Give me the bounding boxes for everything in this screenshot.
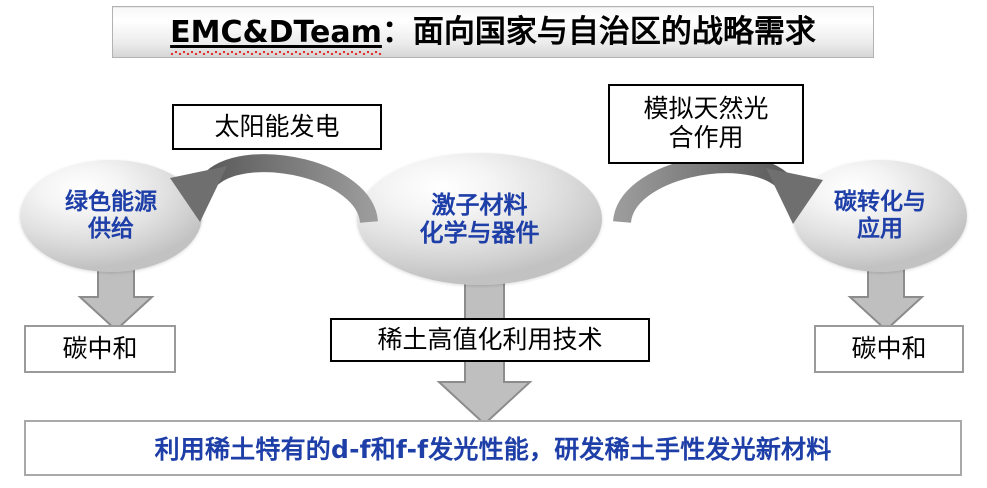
- label-box-artificial-photosynthesis-text: 模拟天然光 合作用: [643, 95, 768, 153]
- down-arrow-left: [80, 268, 152, 330]
- label-box-solar-power-text: 太阳能发电: [214, 113, 339, 142]
- label-box-carbon-neutral-left-text: 碳中和: [62, 335, 137, 364]
- label-box-rare-earth-technology[interactable]: 稀土高值化利用技术: [330, 318, 650, 362]
- page-title: EMC&DTeam：面向国家与自治区的战略需求: [170, 17, 816, 48]
- node-green-energy[interactable]: 绿色能源 供给: [20, 160, 202, 272]
- label-box-carbon-neutral-right[interactable]: 碳中和: [814, 325, 964, 373]
- bottom-summary-banner-text: 利用稀土特有的d-f和f-f发光性能，研发稀土手性发光新材料: [155, 430, 832, 466]
- node-exciton-materials[interactable]: 激子材料 化学与器件: [357, 153, 602, 285]
- down-arrow-right: [850, 268, 922, 330]
- label-box-carbon-neutral-right-text: 碳中和: [851, 335, 926, 364]
- bottom-summary-banner[interactable]: 利用稀土特有的d-f和f-f发光性能，研发稀土手性发光新材料: [24, 420, 962, 476]
- slide-canvas: EMC&DTeam：面向国家与自治区的战略需求: [0, 0, 987, 488]
- title-separator: ：: [382, 17, 413, 48]
- node-green-energy-label: 绿色能源 供给: [65, 189, 157, 243]
- label-box-rare-earth-technology-text: 稀土高值化利用技术: [377, 326, 602, 355]
- title-chinese-text: 面向国家与自治区的战略需求: [413, 17, 816, 48]
- label-box-carbon-neutral-left[interactable]: 碳中和: [24, 325, 176, 373]
- label-box-artificial-photosynthesis[interactable]: 模拟天然光 合作用: [608, 84, 804, 164]
- slide-title-banner: EMC&DTeam：面向国家与自治区的战略需求: [112, 6, 874, 58]
- node-carbon-conversion[interactable]: 碳转化与 应用: [793, 160, 967, 272]
- label-box-solar-power[interactable]: 太阳能发电: [172, 104, 382, 150]
- node-exciton-materials-label: 激子材料 化学与器件: [420, 191, 540, 248]
- node-carbon-conversion-label: 碳转化与 应用: [834, 189, 926, 243]
- title-english-text: EMC&DTeam: [170, 18, 382, 48]
